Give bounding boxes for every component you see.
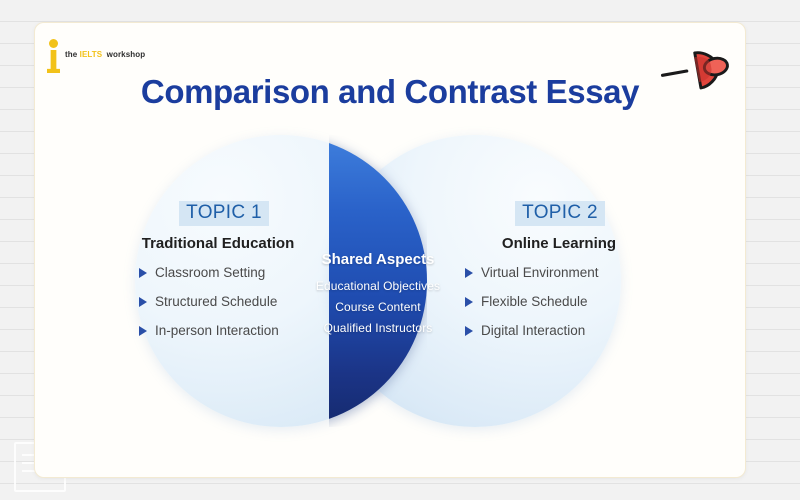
topic-1-badge: TOPIC 1 <box>179 201 269 226</box>
brand-logo-text: the IELTS workshop <box>65 39 145 62</box>
list-item-label: Digital Interaction <box>481 323 585 338</box>
brand-ielts-word: IELTS <box>80 50 103 59</box>
list-item-label: Structured Schedule <box>155 294 277 309</box>
content-card: the IELTS workshop Comparison and Contra… <box>34 22 746 478</box>
list-item: Flexible Schedule <box>465 294 663 309</box>
list-item-label: Classroom Setting <box>155 265 265 280</box>
triangle-bullet-icon <box>139 268 147 278</box>
list-item-label: Virtual Environment <box>481 265 599 280</box>
venn-shared-panel: Shared Aspects Educational Objectives Co… <box>281 251 475 342</box>
triangle-bullet-icon <box>139 326 147 336</box>
topic-1-badge-wrap: TOPIC 1 <box>117 201 317 235</box>
shared-item: Course Content <box>281 300 475 314</box>
topic-2-heading: Online Learning <box>463 235 663 252</box>
page-title: Comparison and Contrast Essay <box>35 73 745 111</box>
topic-2-badge-wrap: TOPIC 2 <box>463 201 663 235</box>
brand-logo-line-one: the IELTS <box>65 50 102 59</box>
list-item-label: In-person Interaction <box>155 323 279 338</box>
triangle-bullet-icon <box>139 297 147 307</box>
brand-the-word: the <box>65 50 80 59</box>
brand-logo[interactable]: the IELTS workshop <box>46 39 145 73</box>
venn-diagram: TOPIC 1 Traditional Education Classroom … <box>95 123 695 463</box>
page-root: the IELTS workshop Comparison and Contra… <box>0 0 800 500</box>
list-item: Digital Interaction <box>465 323 663 338</box>
information-i-icon <box>46 39 61 73</box>
topic-2-bullet-list: Virtual Environment Flexible Schedule Di… <box>463 265 663 338</box>
shared-aspects-heading: Shared Aspects <box>281 251 475 268</box>
shared-item: Qualified Instructors <box>281 321 475 335</box>
list-item-label: Flexible Schedule <box>481 294 588 309</box>
brand-logo-line-two: workshop <box>107 50 146 59</box>
venn-right-panel: TOPIC 2 Online Learning Virtual Environm… <box>463 201 663 352</box>
topic-1-heading: Traditional Education <box>117 235 317 252</box>
topic-2-badge: TOPIC 2 <box>515 201 605 226</box>
list-item: Virtual Environment <box>465 265 663 280</box>
shared-item: Educational Objectives <box>281 279 475 293</box>
